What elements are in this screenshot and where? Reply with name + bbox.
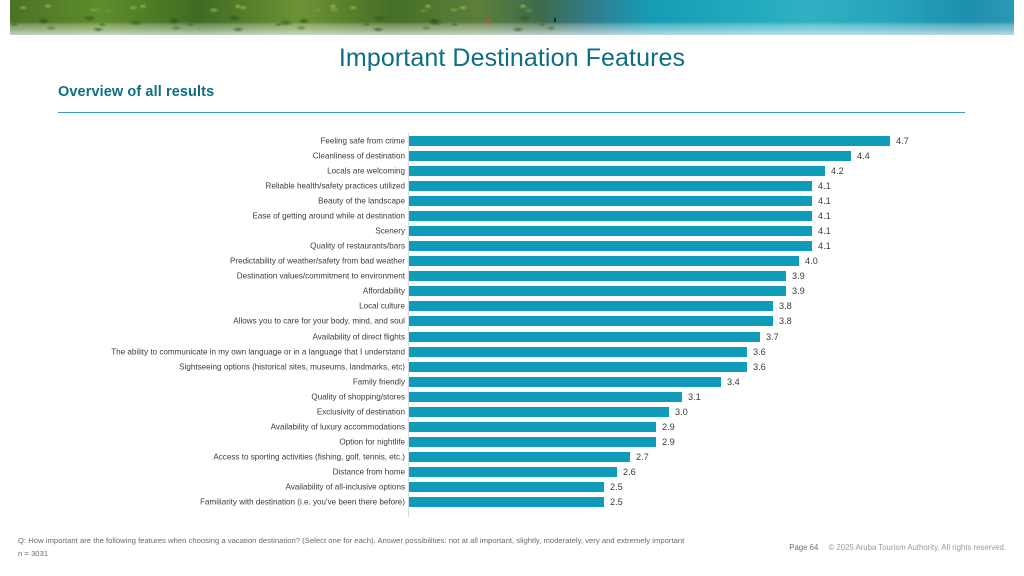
bar-track: 3.8 xyxy=(409,301,1024,311)
bar-category-label: Cleanliness of destination xyxy=(313,151,405,160)
bar xyxy=(409,271,786,281)
bar-category-label: Exclusivity of destination xyxy=(317,407,405,416)
chart-row: Access to sporting activities (fishing, … xyxy=(0,450,1024,465)
bar-track: 4.1 xyxy=(409,181,1024,191)
bar-category-label: Feeling safe from crime xyxy=(320,136,405,145)
bar xyxy=(409,407,669,417)
chart-row: Affordability3.9 xyxy=(0,284,1024,299)
bar-track: 2.9 xyxy=(409,422,1024,432)
chart-row: Availability of all-inclusive options2.5 xyxy=(0,480,1024,495)
bar xyxy=(409,241,812,251)
bar-value-label: 3.9 xyxy=(792,271,805,281)
page-meta: Page 64 © 2025 Aruba Tourism Authority. … xyxy=(789,543,1006,552)
bar-category-label: The ability to communicate in my own lan… xyxy=(111,347,405,356)
page-title: Important Destination Features xyxy=(0,44,1024,73)
bar xyxy=(409,422,656,432)
chart-row: Ease of getting around while at destinat… xyxy=(0,208,1024,223)
bar xyxy=(409,392,682,402)
bar xyxy=(409,301,773,311)
chart-row: Quality of restaurants/bars4.1 xyxy=(0,239,1024,254)
bar-value-label: 2.9 xyxy=(662,437,675,447)
footnote: Q: How important are the following featu… xyxy=(18,535,728,559)
chart-row: Feeling safe from crime4.7 xyxy=(0,133,1024,148)
bar-track: 4.1 xyxy=(409,241,1024,251)
chart-row: Sightseeing options (historical sites, m… xyxy=(0,359,1024,374)
chart-row: Option for nightlife2.9 xyxy=(0,435,1024,450)
bar xyxy=(409,136,890,146)
bar xyxy=(409,151,851,161)
chart-row: Beauty of the landscape4.1 xyxy=(0,193,1024,208)
bar-track: 2.7 xyxy=(409,452,1024,462)
chart-row: Distance from home2.6 xyxy=(0,465,1024,480)
bar-track: 4.0 xyxy=(409,256,1024,266)
bar-value-label: 2.5 xyxy=(610,497,623,507)
bar xyxy=(409,166,825,176)
bar-category-label: Destination values/commitment to environ… xyxy=(237,272,405,281)
bar-value-label: 2.5 xyxy=(610,482,623,492)
bar-category-label: Distance from home xyxy=(333,468,405,477)
bar-track: 2.6 xyxy=(409,467,1024,477)
bar xyxy=(409,181,812,191)
bar-value-label: 2.6 xyxy=(623,467,636,477)
bar-value-label: 3.4 xyxy=(727,377,740,387)
bar-value-label: 4.2 xyxy=(831,166,844,176)
bar-value-label: 3.7 xyxy=(766,332,779,342)
bar-category-label: Availability of direct flights xyxy=(312,332,405,341)
bar-value-label: 3.6 xyxy=(753,347,766,357)
chart-row: Destination values/commitment to environ… xyxy=(0,269,1024,284)
horizontal-bar-chart: Feeling safe from crime4.7Cleanliness of… xyxy=(0,133,1024,523)
bar-category-label: Family friendly xyxy=(353,377,405,386)
bar-category-label: Access to sporting activities (fishing, … xyxy=(213,453,405,462)
copyright-notice: © 2025 Aruba Tourism Authority. All righ… xyxy=(828,543,1006,552)
bar-category-label: Locals are welcoming xyxy=(327,166,405,175)
bar-value-label: 4.1 xyxy=(818,226,831,236)
bar-value-label: 2.9 xyxy=(662,422,675,432)
bar xyxy=(409,482,604,492)
bar-category-label: Quality of shopping/stores xyxy=(311,392,405,401)
bar-value-label: 3.9 xyxy=(792,286,805,296)
bar-category-label: Sightseeing options (historical sites, m… xyxy=(179,362,405,371)
title-divider xyxy=(58,112,965,113)
bar xyxy=(409,452,630,462)
bar-value-label: 4.1 xyxy=(818,211,831,221)
bar xyxy=(409,332,760,342)
bar-track: 3.0 xyxy=(409,407,1024,417)
page-number: Page 64 xyxy=(789,543,818,552)
bar-track: 3.1 xyxy=(409,392,1024,402)
bar-category-label: Option for nightlife xyxy=(339,438,405,447)
bar xyxy=(409,497,604,507)
sample-size: n = 3031 xyxy=(18,548,728,560)
bar-value-label: 3.0 xyxy=(675,407,688,417)
header-banner-image xyxy=(10,0,1014,35)
bar-value-label: 4.1 xyxy=(818,241,831,251)
chart-row: The ability to communicate in my own lan… xyxy=(0,344,1024,359)
bar-category-label: Local culture xyxy=(359,302,405,311)
chart-row: Local culture3.8 xyxy=(0,299,1024,314)
bar-track: 3.9 xyxy=(409,271,1024,281)
bar-value-label: 4.4 xyxy=(857,151,870,161)
bar-value-label: 3.6 xyxy=(753,362,766,372)
survey-question: Q: How important are the following featu… xyxy=(18,536,684,545)
bar xyxy=(409,256,799,266)
bar xyxy=(409,286,786,296)
chart-row: Availability of luxury accommodations2.9 xyxy=(0,419,1024,434)
bar-category-label: Ease of getting around while at destinat… xyxy=(252,211,405,220)
bar-value-label: 4.1 xyxy=(818,196,831,206)
chart-row: Familiarity with destination (i.e. you'v… xyxy=(0,495,1024,510)
bar-value-label: 3.1 xyxy=(688,392,701,402)
banner-photo xyxy=(10,0,1014,35)
bar-category-label: Predictability of weather/safety from ba… xyxy=(230,257,405,266)
bar-track: 3.6 xyxy=(409,347,1024,357)
section-subtitle: Overview of all results xyxy=(58,84,214,100)
bar-value-label: 2.7 xyxy=(636,452,649,462)
bar-track: 4.4 xyxy=(409,151,1024,161)
bar-track: 4.1 xyxy=(409,211,1024,221)
bar-track: 3.4 xyxy=(409,377,1024,387)
bar-track: 4.7 xyxy=(409,136,1024,146)
bar-value-label: 4.7 xyxy=(896,136,909,146)
bar-track: 2.5 xyxy=(409,482,1024,492)
chart-row: Cleanliness of destination4.4 xyxy=(0,148,1024,163)
bar-track: 2.5 xyxy=(409,497,1024,507)
bar xyxy=(409,211,812,221)
bar-track: 2.9 xyxy=(409,437,1024,447)
bar-value-label: 4.1 xyxy=(818,181,831,191)
chart-row: Predictability of weather/safety from ba… xyxy=(0,254,1024,269)
bar-track: 4.1 xyxy=(409,226,1024,236)
bar-category-label: Beauty of the landscape xyxy=(318,196,405,205)
bar xyxy=(409,377,721,387)
chart-row: Allows you to care for your body, mind, … xyxy=(0,314,1024,329)
bar xyxy=(409,467,617,477)
bar-category-label: Scenery xyxy=(375,227,405,236)
bar xyxy=(409,226,812,236)
bar-category-label: Availability of all-inclusive options xyxy=(285,483,405,492)
chart-row: Availability of direct flights3.7 xyxy=(0,329,1024,344)
chart-row: Family friendly3.4 xyxy=(0,374,1024,389)
chart-row: Exclusivity of destination3.0 xyxy=(0,404,1024,419)
bar-track: 4.1 xyxy=(409,196,1024,206)
bar-track: 3.7 xyxy=(409,332,1024,342)
bar-track: 3.9 xyxy=(409,286,1024,296)
bar xyxy=(409,362,747,372)
bar xyxy=(409,437,656,447)
bar-category-label: Familiarity with destination (i.e. you'v… xyxy=(200,498,405,507)
bar-category-label: Availability of luxury accommodations xyxy=(271,423,405,432)
bar-track: 3.8 xyxy=(409,316,1024,326)
bar-value-label: 3.8 xyxy=(779,301,792,311)
bar xyxy=(409,196,812,206)
bar-track: 3.6 xyxy=(409,362,1024,372)
bar xyxy=(409,316,773,326)
chart-row: Locals are welcoming4.2 xyxy=(0,163,1024,178)
bar-category-label: Reliable health/safety practices utilize… xyxy=(266,181,405,190)
bar-value-label: 3.8 xyxy=(779,316,792,326)
chart-row: Scenery4.1 xyxy=(0,223,1024,238)
bar-category-label: Affordability xyxy=(363,287,405,296)
bar-category-label: Quality of restaurants/bars xyxy=(310,242,405,251)
chart-row: Reliable health/safety practices utilize… xyxy=(0,178,1024,193)
bar-category-label: Allows you to care for your body, mind, … xyxy=(233,317,405,326)
bar-track: 4.2 xyxy=(409,166,1024,176)
bar xyxy=(409,347,747,357)
chart-row: Quality of shopping/stores3.1 xyxy=(0,389,1024,404)
bar-value-label: 4.0 xyxy=(805,256,818,266)
